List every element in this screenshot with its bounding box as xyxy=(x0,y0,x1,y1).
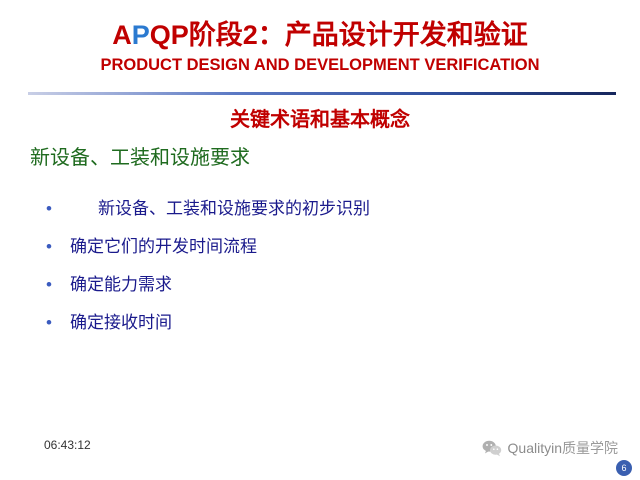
list-item-label: 确定能力需求 xyxy=(70,272,172,298)
footer-bar: 06:43:12 Qualityin质量学院 6 xyxy=(0,438,640,480)
watermark: Qualityin质量学院 xyxy=(482,438,618,458)
timestamp: 06:43:12 xyxy=(44,438,91,452)
bullet-dot-icon: • xyxy=(46,272,70,298)
title-letters-qp: QP xyxy=(150,20,189,50)
list-item: • 新设备、工装和设施要求的初步识别 xyxy=(46,196,606,222)
list-item: • 确定能力需求 xyxy=(46,272,606,298)
title-block: APQP阶段2：产品设计开发和验证 PRODUCT DESIGN AND DEV… xyxy=(0,18,640,76)
list-item: • 确定它们的开发时间流程 xyxy=(46,234,606,260)
list-item-label: 确定接收时间 xyxy=(70,310,172,336)
subtitle: 关键术语和基本概念 xyxy=(0,103,640,132)
bullet-dot-icon: • xyxy=(46,234,70,260)
watermark-label: Qualityin质量学院 xyxy=(508,438,618,458)
watermark-brand: Qualityin xyxy=(508,440,562,456)
bullet-list: • 新设备、工装和设施要求的初步识别 • 确定它们的开发时间流程 • 确定能力需… xyxy=(46,196,606,348)
list-item-label: 新设备、工装和设施要求的初步识别 xyxy=(70,196,370,222)
title-letter-p: P xyxy=(132,20,150,50)
title-stage-name: 产品设计开发和验证 xyxy=(285,20,528,50)
section-heading: 新设备、工装和设施要求 xyxy=(30,141,250,170)
list-item: • 确定接收时间 xyxy=(46,310,606,336)
wechat-icon xyxy=(482,440,502,457)
divider xyxy=(28,92,616,95)
title-english: PRODUCT DESIGN AND DEVELOPMENT VERIFICAT… xyxy=(0,54,640,76)
page-badge: 6 xyxy=(616,460,632,476)
watermark-suffix: 质量学院 xyxy=(562,440,618,456)
list-item-label: 确定它们的开发时间流程 xyxy=(70,234,257,260)
bullet-dot-icon: • xyxy=(46,196,70,222)
title-letter-a: A xyxy=(112,20,132,50)
title-chinese: APQP阶段2：产品设计开发和验证 xyxy=(0,18,640,52)
title-stage-label: 阶段2： xyxy=(189,20,285,50)
bullet-dot-icon: • xyxy=(46,310,70,336)
